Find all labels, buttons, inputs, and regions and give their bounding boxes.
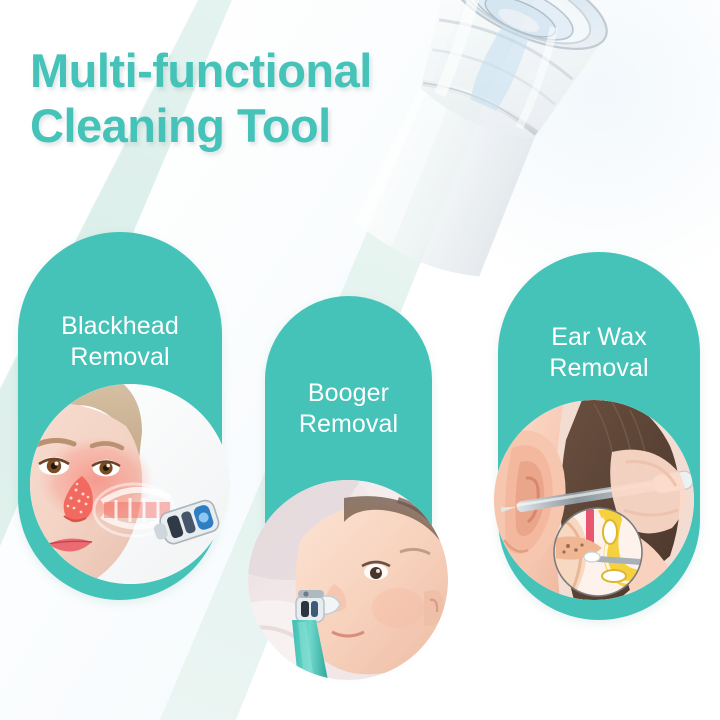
feature-card-label: Booger Removal: [265, 378, 432, 439]
product-feature-poster: Multi-functional Cleaning Tool Blackhead…: [0, 0, 720, 720]
feature-card-earwax[interactable]: Ear Wax Removal: [498, 252, 700, 620]
ear-wax-removal-photo: [494, 400, 694, 600]
page-title: Multi-functional Cleaning Tool: [30, 44, 500, 153]
feature-card-booger[interactable]: Booger Removal: [265, 296, 432, 672]
feature-card-blackhead[interactable]: Blackhead Removal: [18, 232, 222, 600]
booger-removal-photo: [248, 480, 448, 680]
feature-card-label: Ear Wax Removal: [498, 322, 700, 383]
blackhead-removal-photo: [30, 384, 230, 584]
feature-card-label: Blackhead Removal: [18, 311, 222, 372]
